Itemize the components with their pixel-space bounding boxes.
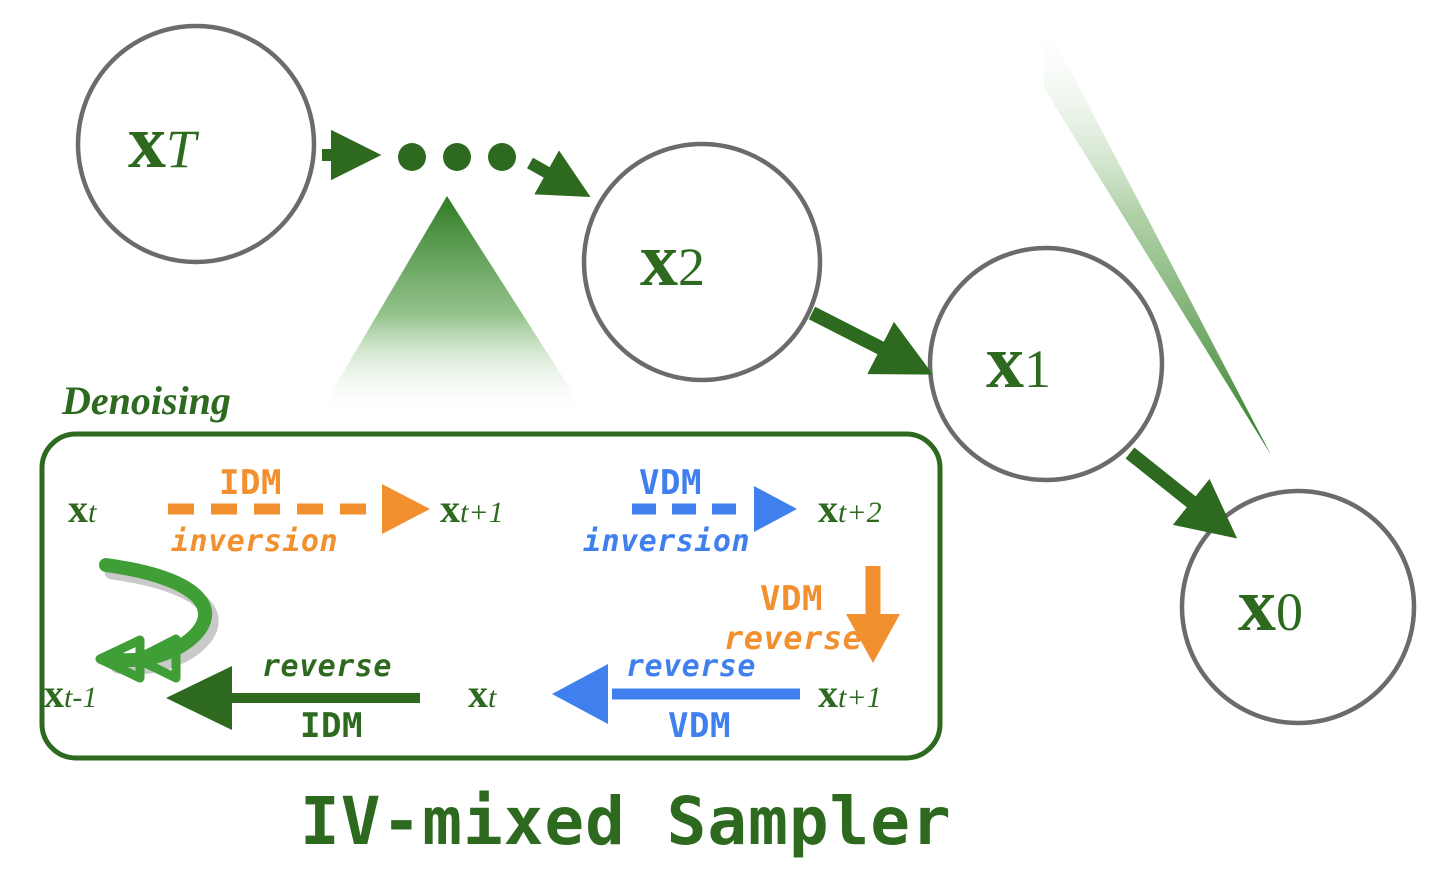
ellipsis-dot — [398, 143, 426, 171]
idm-inversion-arrowhead — [382, 484, 430, 534]
denoising-caption: Denoising — [62, 381, 231, 421]
state-label-xt1-top: xt+1 — [440, 489, 504, 529]
idm-inversion-label-top: IDM — [219, 466, 282, 500]
diagram-svg — [0, 0, 1440, 878]
chain-arrow-x1-to-x0 — [1130, 453, 1224, 528]
state-label-xt2-top: xt+2 — [818, 489, 882, 529]
state-label-xt-bottom: xt — [468, 674, 496, 714]
chain-arrow-dots-to-x2 — [530, 163, 578, 190]
ellipsis-dot — [488, 143, 516, 171]
idm-reverse-arrow-label-bottom: IDM — [300, 709, 363, 743]
gradient-cone-left — [320, 196, 585, 412]
node-label-x0: x0 — [1238, 567, 1303, 643]
vdm-inversion-label-bottom: inversion — [583, 527, 750, 557]
vdm-inversion-arrowhead — [754, 486, 797, 532]
state-label-xtm1-bottom: xt-1 — [44, 674, 97, 714]
chain-arrow-x2-to-x1 — [812, 313, 918, 367]
vdm-reverse-label-top: VDM — [760, 582, 823, 616]
idm-reverse-arrow-label-top: reverse — [262, 652, 392, 682]
state-label-xt-top: xt — [68, 489, 96, 529]
ellipsis-dot — [443, 143, 471, 171]
state-label-xt1-bottom: xt+1 — [818, 674, 882, 714]
vdm-reverse-arrowhead — [552, 664, 608, 724]
figure-title: IV-mixed Sampler — [300, 789, 952, 855]
vdm-reverse-arrow-label-top: reverse — [626, 652, 756, 682]
node-label-xT: xT — [128, 104, 196, 180]
node-label-x1: x1 — [986, 324, 1051, 400]
node-label-x2: x2 — [640, 222, 705, 298]
idm-inversion-label-bottom: inversion — [171, 527, 338, 557]
figure-canvas: xT x2 x1 x0 Denoising xt IDM inversion x… — [0, 0, 1440, 878]
vdm-inversion-label-top: VDM — [639, 466, 702, 500]
vdm-reverse-arrow-label-bottom: VDM — [668, 709, 731, 743]
